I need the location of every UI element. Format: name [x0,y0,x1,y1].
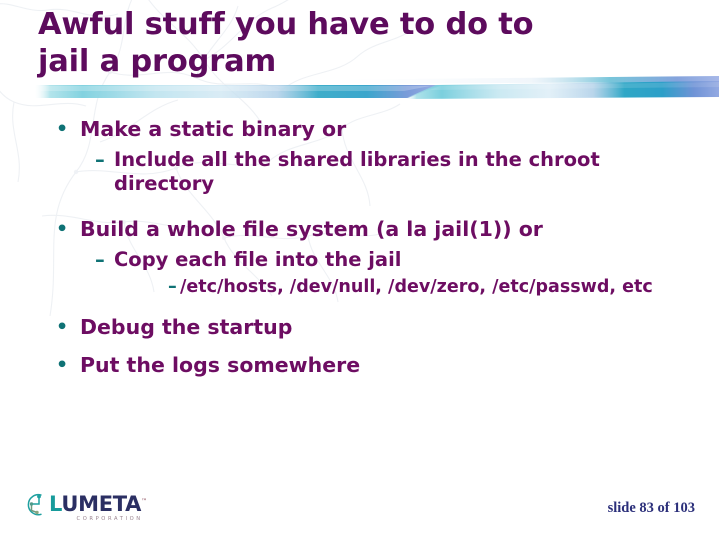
slide-number: slide 83 of 103 [608,500,695,517]
dash-marker: – [95,148,114,172]
list-item: – /etc/hosts, /dev/null, /dev/zero, /etc… [168,276,681,298]
list-item-label: /etc/hosts, /dev/null, /dev/zero, /etc/p… [180,276,681,298]
bullet-marker: • [56,117,80,142]
bullet-marker: • [56,315,80,340]
list-item: • Make a static binary or [56,117,681,142]
lumeta-wordmark-text: LUMETA™ [49,491,147,515]
bullet-marker: • [56,217,80,242]
list-item: • Put the logs somewhere [56,353,681,378]
slide-canvas: Awful stuff you have to do to jail a pro… [0,0,719,539]
page-title: Awful stuff you have to do to jail a pro… [38,6,678,80]
list-item-label: Copy each file into the jail [114,248,681,272]
list-item: • Build a whole file system (a la jail(1… [56,217,681,242]
dash-marker: – [95,248,114,272]
bullet-marker: • [56,353,80,378]
lumeta-subtitle: CORPORATION [49,516,147,522]
title-block: Awful stuff you have to do to jail a pro… [38,6,678,80]
dash-marker: – [168,276,180,298]
lumeta-wordmark: LUMETA™ CORPORATION [49,491,147,522]
list-item: – Copy each file into the jail [95,248,681,272]
list-item-label: Put the logs somewhere [80,353,681,378]
lumeta-mark-icon [21,491,47,519]
trademark-icon: ™ [141,498,147,505]
list-item: – Include all the shared libraries in th… [95,148,681,196]
list-item-label: Debug the startup [80,315,681,340]
list-item-label: Build a whole file system (a la jail(1))… [80,217,681,242]
lumeta-rest: UMETA [61,492,141,516]
list-item-label: Include all the shared libraries in the … [114,148,681,196]
list-item: • Debug the startup [56,315,681,340]
lumeta-logo: LUMETA™ CORPORATION [21,491,163,525]
lumeta-initial: L [49,492,61,516]
list-item-label: Make a static binary or [80,117,681,142]
content-body: • Make a static binary or – Include all … [56,117,681,384]
title-accent-bar [0,76,719,104]
